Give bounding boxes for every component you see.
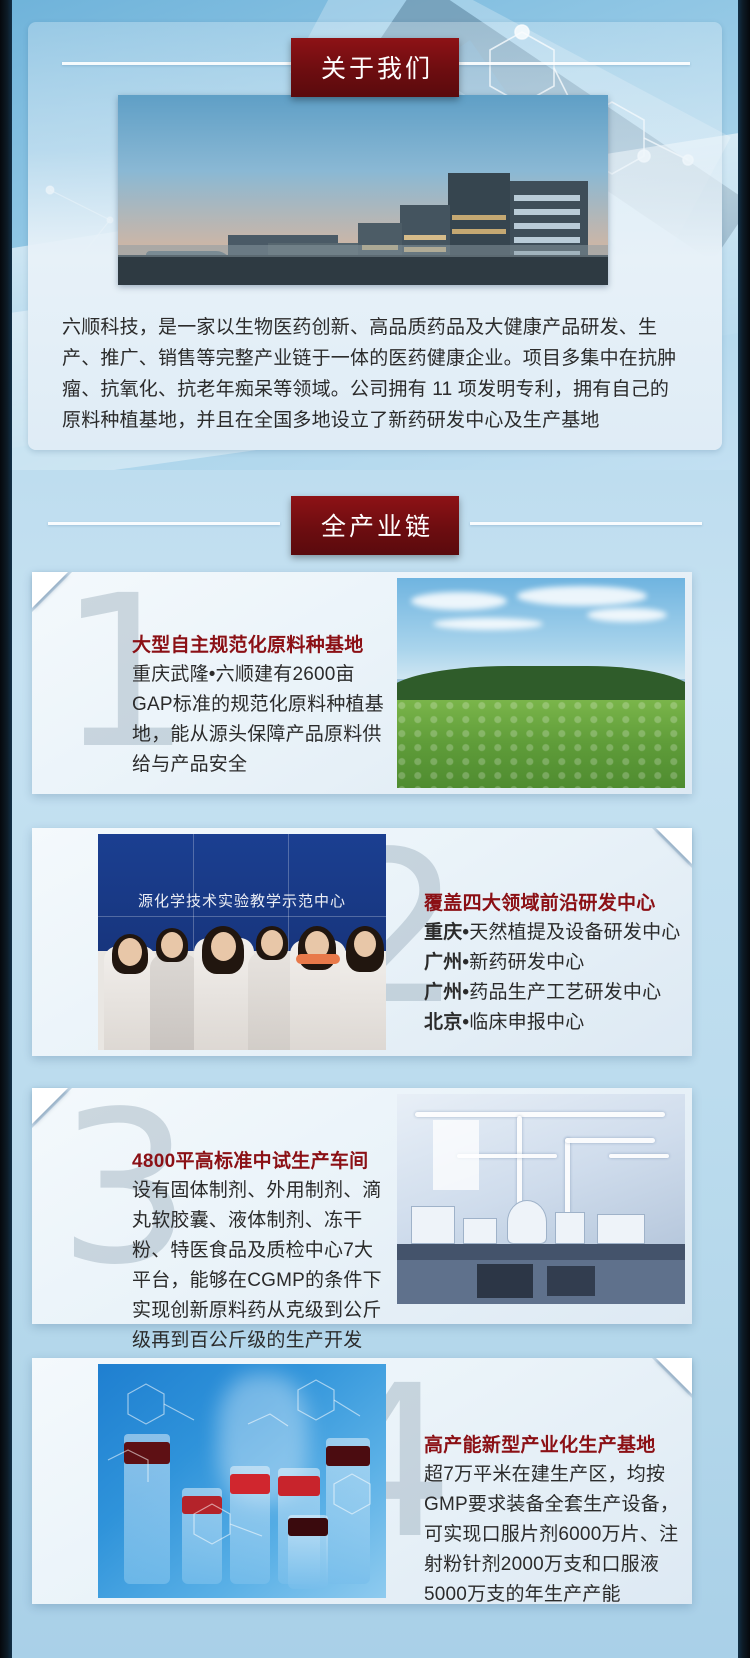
molecular-overlay-icon — [98, 1364, 386, 1598]
chain-card-2[interactable]: 2 源化学技术实验教学示范中心 — [32, 828, 692, 1056]
chain-card-4-title: 高产能新型产业化生产基地 — [424, 1430, 686, 1457]
chain-card-3-title: 4800平高标准中试生产车间 — [132, 1146, 390, 1173]
rd-center-line: 广州•药品生产工艺研发中心 — [424, 978, 694, 1008]
chain-card-1-body: 重庆武隆•六顺建有2600亩GAP标准的规范化原料种植基地，能从源头保障产品原料… — [132, 660, 390, 780]
section-badge-about: 关于我们 — [291, 38, 459, 97]
card-fold-corner-icon — [32, 1088, 72, 1128]
chain-card-2-lines: 重庆•天然植提及设备研发中心 广州•新药研发中心 广州•药品生产工艺研发中心 北… — [424, 918, 694, 1038]
chain-card-4[interactable]: 4 — [32, 1358, 692, 1604]
about-hero-photo — [118, 95, 608, 285]
chain-card-1[interactable]: 1 大型自主规范化原料种基地 重庆武隆•六顺建有2600亩GAP标准的规范化原料… — [32, 572, 692, 794]
card-fold-corner-icon — [652, 1358, 692, 1398]
about-badge-row: 关于我们 — [0, 38, 750, 97]
chain-card-1-photo — [397, 578, 685, 788]
chain-card-4-body: 超7万平米在建生产区，均按GMP要求装备全套生产设备，可实现口服片剂6000万片… — [424, 1460, 686, 1610]
chain-card-3-body: 设有固体制剂、外用制剂、滴丸软胶囊、液体制剂、冻干粉、特医食品及质检中心7大平台… — [132, 1176, 390, 1356]
page-edge-right — [738, 0, 750, 1658]
chain-badge-row: 全产业链 — [0, 496, 750, 555]
card-fold-corner-icon — [652, 828, 692, 868]
chain-card-1-title: 大型自主规范化原料种基地 — [132, 630, 390, 657]
chain-card-2-banner-text: 源化学技术实验教学示范中心 — [98, 890, 386, 911]
rd-center-line: 广州•新药研发中心 — [424, 948, 694, 978]
chain-card-3[interactable]: 3 4800平高标准中试 — [32, 1088, 692, 1324]
promo-page: 关于我们 — [0, 0, 750, 1658]
chain-card-2-photo: 源化学技术实验教学示范中心 — [98, 834, 386, 1050]
section-badge-chain: 全产业链 — [291, 496, 459, 555]
rd-center-line: 重庆•天然植提及设备研发中心 — [424, 918, 694, 948]
page-edge-left — [0, 0, 12, 1658]
rd-center-line: 北京•临床申报中心 — [424, 1008, 694, 1038]
chain-card-2-title: 覆盖四大领域前沿研发中心 — [424, 888, 694, 915]
chain-card-3-photo — [397, 1094, 685, 1304]
about-intro-text: 六顺科技，是一家以生物医药创新、高品质药品及大健康产品研发、生产、推广、销售等完… — [62, 312, 678, 436]
card-fold-corner-icon — [32, 572, 72, 612]
chain-card-4-photo — [98, 1364, 386, 1598]
